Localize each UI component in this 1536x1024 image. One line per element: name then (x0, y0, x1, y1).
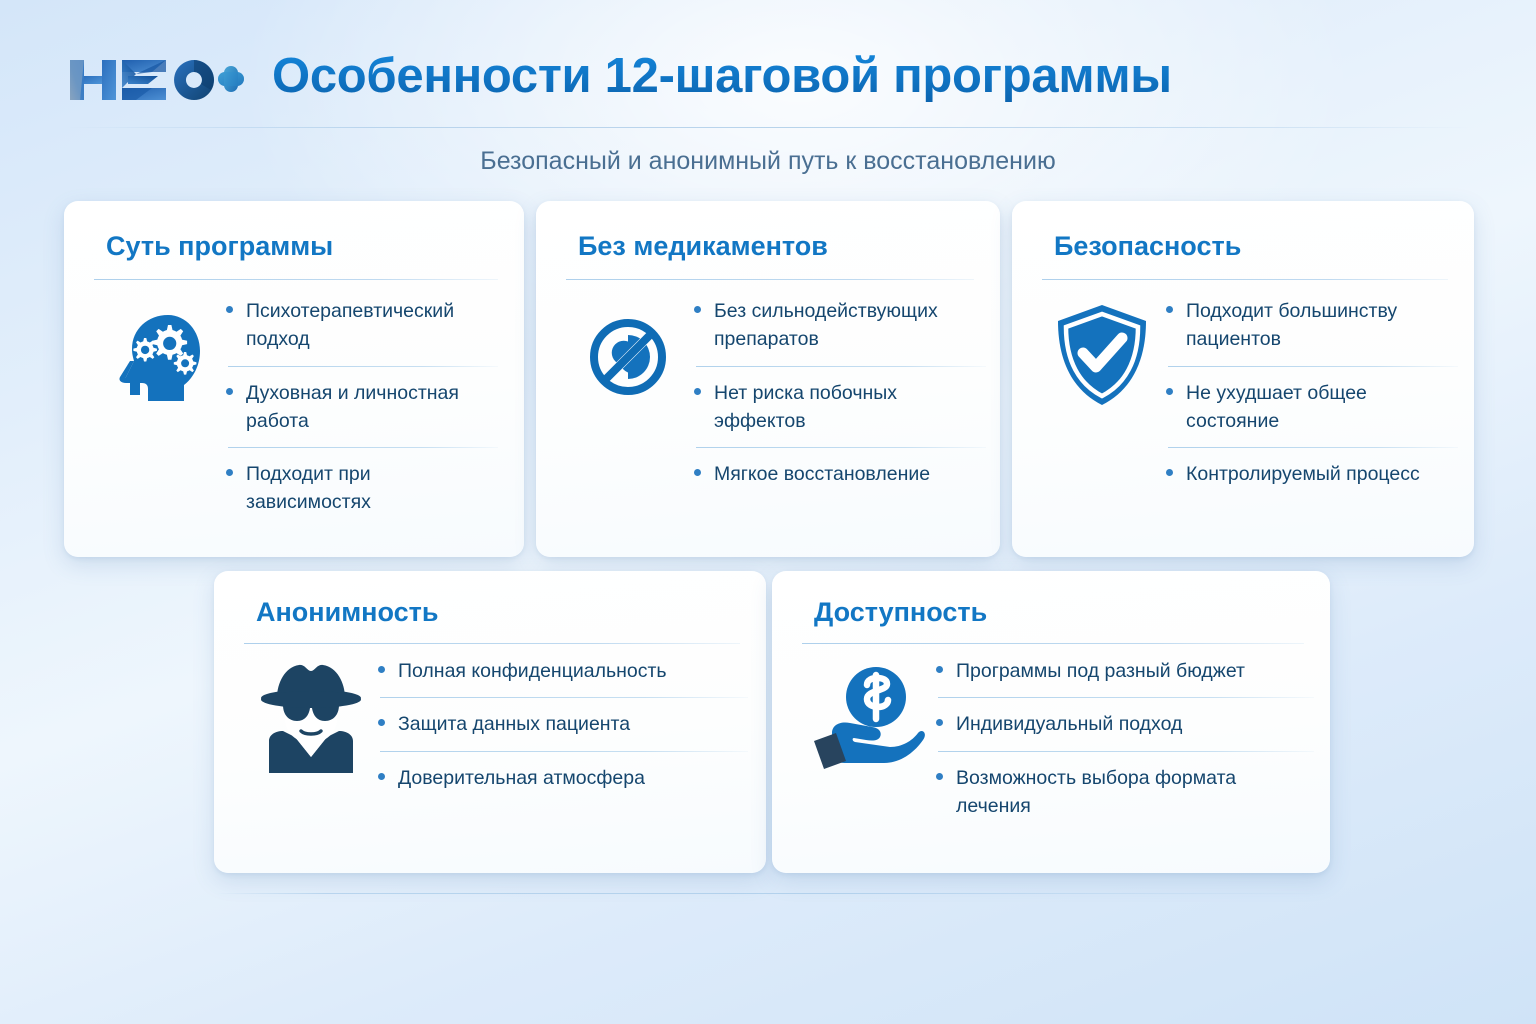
card-bez-medikamentov[interactable]: Без медикаментов (536, 201, 1000, 557)
card-sut-programmy[interactable]: Суть программы (64, 201, 524, 557)
list-item: Без сильнодействующих препаратов (692, 297, 986, 354)
no-pills-icon (564, 297, 692, 407)
list-item: Духовная и личностная работа (224, 379, 498, 436)
bullet-dot-icon (378, 719, 385, 726)
list-item: Мягкое восстановление (692, 460, 986, 488)
heo-plus-logo (66, 52, 244, 108)
bullet-dot-icon (936, 719, 943, 726)
bullet-dot-icon (936, 773, 943, 780)
list-item-label: Полная конфиденциальность (398, 660, 667, 682)
list-item: Подходит большинству пациентов (1164, 297, 1458, 354)
bullet-dot-icon (1166, 388, 1173, 395)
header: Особенности 12-шаговой программы Безопас… (0, 0, 1536, 128)
card-title: Безопасность (1054, 231, 1241, 262)
card-body: Без сильнодействующих препаратов Нет рис… (536, 297, 1000, 488)
card-title-divider (244, 643, 740, 644)
list-item: Контролируемый процесс (1164, 460, 1458, 488)
list-divider (1168, 447, 1458, 448)
page-subtitle: Безопасный и анонимный путь к восстановл… (0, 147, 1536, 176)
list-item: Защита данных пациента (376, 710, 748, 738)
bullet-dot-icon (936, 666, 943, 673)
list-item-label: Подходит при зависимостях (246, 463, 371, 513)
hand-holding-coin-icon (802, 657, 934, 773)
list-item-label: Без сильнодействующих препаратов (714, 300, 938, 350)
list-divider (380, 697, 748, 698)
list-divider (228, 447, 498, 448)
list-item-label: Духовная и личностная работа (246, 382, 459, 432)
bullet-dot-icon (694, 306, 701, 313)
bullet-dot-icon (378, 773, 385, 780)
list-item: Доверительная атмосфера (376, 764, 748, 792)
page-title: Особенности 12-шаговой программы (272, 48, 1172, 104)
card-dostupnost[interactable]: Доступность Программы под разный бюджет (772, 571, 1330, 873)
list-item-label: Доверительная атмосфера (398, 767, 645, 789)
bullet-list: Психотерапевтический подход Духовная и л… (224, 297, 498, 517)
list-divider (938, 751, 1314, 752)
card-body: Подходит большинству пациентов Не ухудша… (1012, 297, 1474, 488)
infographic-root: Особенности 12-шаговой программы Безопас… (0, 0, 1536, 1024)
card-title: Анонимность (256, 597, 438, 628)
list-item-label: Индивидуальный подход (956, 713, 1182, 735)
head-gears-icon (92, 297, 224, 409)
list-item: Подходит при зависимостях (224, 460, 498, 517)
card-title-divider (94, 279, 498, 280)
shield-check-icon (1040, 297, 1164, 409)
list-item-label: Не ухудшает общее состояние (1186, 382, 1367, 432)
list-item-label: Возможность выбора формата лечения (956, 767, 1236, 817)
card-title-divider (802, 643, 1304, 644)
header-divider (64, 127, 1474, 128)
list-item: Не ухудшает общее состояние (1164, 379, 1458, 436)
card-title-divider (566, 279, 974, 280)
bullet-list: Подходит большинству пациентов Не ухудша… (1164, 297, 1458, 488)
bullet-dot-icon (226, 388, 233, 395)
list-item-label: Программы под разный бюджет (956, 660, 1245, 682)
card-title: Доступность (814, 597, 987, 628)
bullet-dot-icon (378, 666, 385, 673)
list-item-label: Мягкое восстановление (714, 463, 930, 485)
card-body: Программы под разный бюджет Индивидуальн… (772, 657, 1330, 820)
list-item: Психотерапевтический подход (224, 297, 498, 354)
bullet-dot-icon (694, 469, 701, 476)
list-item-label: Нет риска побочных эффектов (714, 382, 897, 432)
spy-incognito-icon (246, 657, 376, 775)
list-divider (938, 697, 1314, 698)
bullet-dot-icon (226, 306, 233, 313)
bullet-list: Без сильнодействующих препаратов Нет рис… (692, 297, 986, 488)
list-divider (696, 447, 986, 448)
list-item-label: Защита данных пациента (398, 713, 630, 735)
list-item: Возможность выбора формата лечения (934, 764, 1314, 821)
list-item-label: Контролируемый процесс (1186, 463, 1420, 485)
list-divider (228, 366, 498, 367)
card-anonimnost[interactable]: Анонимность (214, 571, 766, 873)
card-body: Психотерапевтический подход Духовная и л… (64, 297, 524, 517)
bullet-dot-icon (226, 469, 233, 476)
bullet-list: Программы под разный бюджет Индивидуальн… (934, 657, 1314, 820)
list-divider (380, 751, 748, 752)
list-item-label: Подходит большинству пациентов (1186, 300, 1397, 350)
card-body: Полная конфиденциальность Защита данных … (214, 657, 766, 792)
bullet-dot-icon (1166, 469, 1173, 476)
card-bezopasnost[interactable]: Безопасность Подходит большинству пациен… (1012, 201, 1474, 557)
list-divider (1168, 366, 1458, 367)
bullet-dot-icon (1166, 306, 1173, 313)
list-item-label: Психотерапевтический подход (246, 300, 454, 350)
list-item: Нет риска побочных эффектов (692, 379, 986, 436)
footer-divider (215, 893, 1332, 894)
bullet-list: Полная конфиденциальность Защита данных … (376, 657, 748, 792)
card-title-divider (1042, 279, 1448, 280)
card-title: Без медикаментов (578, 231, 828, 262)
heo-plus-logo-icon (66, 52, 244, 108)
card-title: Суть программы (106, 231, 333, 262)
list-divider (696, 366, 986, 367)
list-item: Программы под разный бюджет (934, 657, 1314, 685)
bullet-dot-icon (694, 388, 701, 395)
list-item: Индивидуальный подход (934, 710, 1314, 738)
list-item: Полная конфиденциальность (376, 657, 748, 685)
